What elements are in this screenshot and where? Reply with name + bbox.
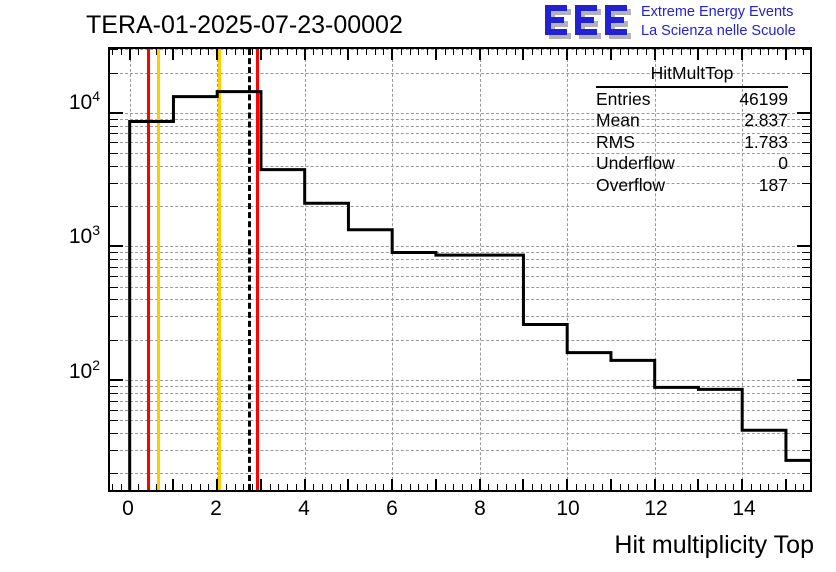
stats-value-underflow: 0 [778, 153, 788, 175]
stats-key-rms: RMS [596, 132, 635, 154]
eee-logo-mark-icon [545, 5, 633, 39]
stats-key-overflow: Overflow [596, 175, 665, 197]
eee-logo: Extreme Energy Events La Scienza nelle S… [545, 3, 833, 43]
stats-row-entries: Entries 46199 [596, 89, 788, 111]
y-tick-label-1e3: 103 [69, 226, 100, 248]
x-axis-title: Hit multiplicity Top [614, 530, 814, 560]
stats-value-entries: 46199 [739, 89, 788, 111]
stats-row-overflow: Overflow 187 [596, 175, 788, 197]
page-title: TERA-01-2025-07-23-00002 [86, 10, 403, 40]
x-tick-label-8: 8 [474, 497, 486, 521]
stats-row-underflow: Underflow 0 [596, 153, 788, 175]
stats-key-mean: Mean [596, 110, 640, 132]
stats-key-underflow: Underflow [596, 153, 675, 175]
y-axis-labels: 104 103 102 [0, 0, 100, 572]
x-tick-label-6: 6 [386, 497, 398, 521]
stats-value-overflow: 187 [759, 175, 788, 197]
eee-logo-text: Extreme Energy Events La Scienza nelle S… [641, 3, 833, 41]
stats-key-entries: Entries [596, 89, 650, 111]
plot-canvas: TERA-01-2025-07-23-00002 Extreme Energy … [0, 0, 836, 572]
x-tick-label-14: 14 [732, 497, 755, 521]
y-tick-label-1e4: 104 [69, 92, 100, 114]
stats-value-rms: 1.783 [744, 132, 788, 154]
stats-row-rms: RMS 1.783 [596, 132, 788, 154]
x-tick-label-10: 10 [556, 497, 579, 521]
x-tick-label-12: 12 [644, 497, 667, 521]
x-tick-label-0: 0 [122, 497, 134, 521]
y-tick-label-1e2: 102 [69, 361, 100, 383]
stats-box: HitMultTop Entries 46199 Mean 2.837 RMS … [596, 63, 788, 196]
stats-value-mean: 2.837 [744, 110, 788, 132]
eee-logo-line2: La Scienza nelle Scuole [641, 22, 833, 41]
x-tick-label-2: 2 [210, 497, 222, 521]
stats-row-mean: Mean 2.837 [596, 110, 788, 132]
x-tick-label-4: 4 [298, 497, 310, 521]
stats-box-title: HitMultTop [596, 63, 788, 88]
eee-logo-line1: Extreme Energy Events [641, 3, 833, 22]
